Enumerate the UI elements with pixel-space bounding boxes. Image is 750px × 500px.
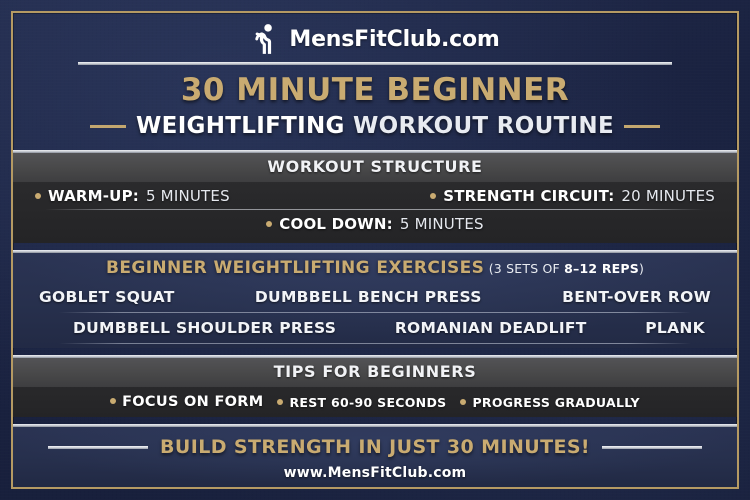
footer-topline (13, 424, 737, 427)
item-label: STRENGTH CIRCUIT: (443, 187, 614, 205)
bullet-icon (110, 398, 116, 404)
section-tips: TIPS FOR BEGINNERS FOCUS ON FORM REST 60… (13, 355, 737, 417)
tip-item-progress-gradually: PROGRESS GRADUALLY (460, 395, 639, 410)
item-value: 5 MINUTES (146, 187, 230, 205)
bullet-icon (266, 221, 272, 227)
structure-rows: WARM-UP: 5 MINUTES STRENGTH CIRCUIT: 20 … (13, 182, 737, 243)
item-label: COOL DOWN: (279, 215, 393, 233)
exercise-row-1: GOBLET SQUAT DUMBBELL BENCH PRESS BENT-O… (39, 282, 711, 312)
dash-left-icon (90, 125, 126, 128)
tip-label: PROGRESS GRADUALLY (472, 395, 639, 410)
structure-row-2: COOL DOWN: 5 MINUTES (35, 210, 715, 237)
tip-label: FOCUS ON FORM (122, 394, 263, 410)
infographic-content: MensFitClub.com 30 MINUTE BEGINNER WEIGH… (13, 13, 737, 487)
footer-cta: BUILD STRENGTH IN JUST 30 MINUTES! (160, 436, 590, 458)
item-value: 5 MINUTES (400, 215, 484, 233)
tips-row: FOCUS ON FORM REST 60-90 SECONDS PROGRES… (13, 387, 737, 417)
section-exercises: BEGINNER WEIGHTLIFTING EXERCISES (3 SETS… (13, 250, 737, 348)
list-item-strength-circuit: STRENGTH CIRCUIT: 20 MINUTES (430, 187, 715, 205)
exercise-row-2: DUMBBELL SHOULDER PRESS ROMANIAN DEADLIF… (39, 313, 711, 343)
sets-reps-note: (3 SETS OF 8–12 REPS) (489, 261, 644, 276)
list-item-warmup: WARM-UP: 5 MINUTES (35, 187, 230, 205)
structure-row-1: WARM-UP: 5 MINUTES STRENGTH CIRCUIT: 20 … (35, 182, 715, 209)
exercise-item: DUMBBELL BENCH PRESS (255, 288, 482, 306)
note-post: ) (639, 261, 644, 276)
note-pre: (3 SETS OF (489, 261, 564, 276)
exercise-item: DUMBBELL SHOULDER PRESS (73, 319, 336, 337)
flexing-bodybuilder-icon (250, 22, 284, 56)
exercise-rows: GOBLET SQUAT DUMBBELL BENCH PRESS BENT-O… (13, 282, 737, 348)
subtitle-rest: WORKOUT ROUTINE (345, 113, 614, 139)
section-heading: BEGINNER WEIGHTLIFTING EXERCISES (106, 258, 484, 278)
footer: BUILD STRENGTH IN JUST 30 MINUTES! www.M… (13, 424, 737, 487)
note-strong: 8–12 REPS (564, 261, 639, 276)
footer-line-right-icon (602, 446, 702, 449)
tip-item-rest: REST 60-90 SECONDS (277, 395, 446, 410)
dash-right-icon (624, 125, 660, 128)
brand-name: MensFitClub.com (289, 27, 499, 52)
row-divider (59, 343, 691, 344)
footer-cta-row: BUILD STRENGTH IN JUST 30 MINUTES! (48, 436, 702, 458)
exercise-item: GOBLET SQUAT (39, 288, 175, 306)
exercise-item: BENT-OVER ROW (562, 288, 711, 306)
page-subtitle: WEIGHTLIFTING WORKOUT ROUTINE (136, 114, 614, 139)
subtitle-row: WEIGHTLIFTING WORKOUT ROUTINE (13, 114, 737, 139)
tip-label: REST 60-90 SECONDS (289, 395, 446, 410)
list-item-cool-down: COOL DOWN: 5 MINUTES (266, 215, 483, 233)
item-label: WARM-UP: (48, 187, 139, 205)
section-workout-structure: WORKOUT STRUCTURE WARM-UP: 5 MINUTES STR… (13, 150, 737, 243)
bullet-icon (277, 399, 283, 405)
bullet-icon (35, 193, 41, 199)
subtitle-strong: WEIGHTLIFTING (136, 113, 345, 139)
header: MensFitClub.com 30 MINUTE BEGINNER WEIGH… (13, 13, 737, 143)
exercise-item: PLANK (645, 319, 705, 337)
item-value: 20 MINUTES (621, 187, 715, 205)
page-title: 30 MINUTE BEGINNER (13, 74, 737, 107)
section-heading: WORKOUT STRUCTURE (267, 157, 482, 176)
brand-logo: MensFitClub.com (13, 21, 737, 57)
exercise-item: ROMANIAN DEADLIFT (395, 319, 587, 337)
header-rule (78, 62, 672, 65)
bullet-icon (460, 399, 466, 405)
footer-line-left-icon (48, 446, 148, 449)
exercises-header: BEGINNER WEIGHTLIFTING EXERCISES (3 SETS… (13, 253, 737, 282)
tip-item-focus-on-form: FOCUS ON FORM (110, 394, 263, 410)
section-heading: TIPS FOR BEGINNERS (274, 362, 477, 381)
bullet-icon (430, 193, 436, 199)
section-header-band: TIPS FOR BEGINNERS (13, 358, 737, 387)
footer-website-url: www.MensFitClub.com (284, 465, 467, 481)
section-header-band: WORKOUT STRUCTURE (13, 153, 737, 182)
